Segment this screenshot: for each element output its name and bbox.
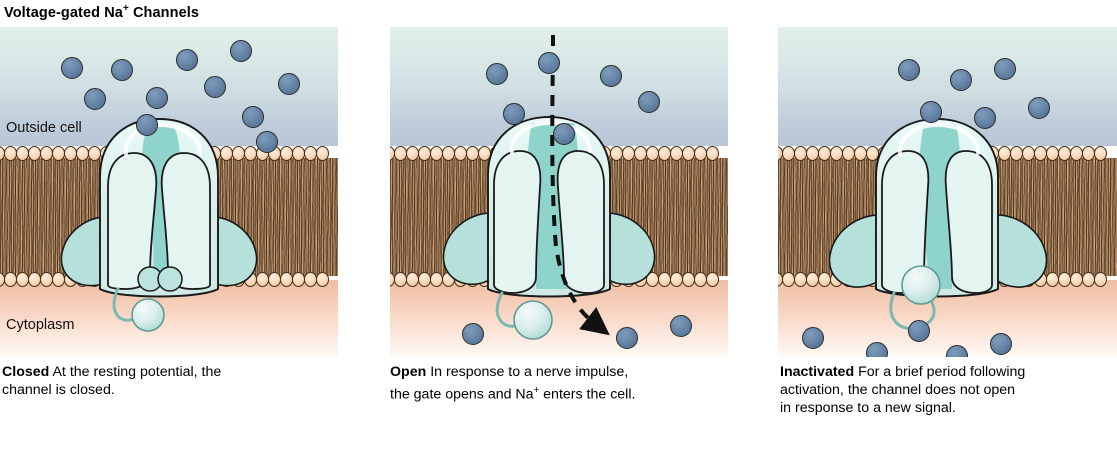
inactivation-ball (132, 299, 164, 331)
sodium-ion-extracellular (974, 107, 996, 129)
caption-closed: Closed At the resting potential, the cha… (2, 364, 332, 400)
sodium-ion-cytoplasmic (866, 342, 888, 357)
caption-open-label: Open (390, 364, 426, 380)
caption-closed-line2: channel is closed. (2, 382, 115, 398)
page-title: Voltage-gated Na+ Channels (4, 3, 199, 21)
channel-lobe-left (494, 151, 540, 293)
sodium-ion-extracellular (553, 123, 575, 145)
sodium-ion-extracellular (600, 65, 622, 87)
caption-inactivated-line3: in response to a new signal. (780, 400, 956, 416)
sodium-ion-cytoplasmic (670, 315, 692, 337)
caption-open-line1: In response to a nerve impulse, (426, 364, 628, 380)
panel-open (390, 27, 728, 357)
channel-lobe-right (558, 151, 604, 293)
channel-protein-open (390, 27, 728, 357)
sodium-ion-extracellular (1028, 97, 1050, 119)
sodium-ion-cytoplasmic (908, 320, 930, 342)
sodium-ion-extracellular (61, 57, 83, 79)
sodium-ion-extracellular (230, 40, 252, 62)
caption-open-line2-post: enters the cell. (539, 387, 635, 403)
title-tail-text: Channels (129, 5, 199, 21)
sodium-ion-cytoplasmic (990, 333, 1012, 355)
title-main-text: Voltage-gated Na (4, 5, 123, 21)
caption-closed-line1: At the resting potential, the (49, 364, 221, 380)
caption-open-line2-pre: the gate opens and Na (390, 387, 534, 403)
inactivation-ball (902, 266, 940, 304)
sodium-ion-extracellular (486, 63, 508, 85)
channel-protein-inactivated (778, 27, 1117, 357)
gate-seal-right (158, 267, 182, 291)
label-cytoplasm: Cytoplasm (6, 317, 75, 333)
inactivation-ball (514, 301, 552, 339)
sodium-ion-extracellular (638, 91, 660, 113)
sodium-ion-extracellular (111, 59, 133, 81)
sodium-ion-extracellular (146, 87, 168, 109)
sodium-ion-extracellular (204, 76, 226, 98)
sodium-ion-extracellular (503, 103, 525, 125)
sodium-ion-extracellular (136, 114, 158, 136)
sodium-ion-extracellular (278, 73, 300, 95)
caption-inactivated-line1: For a brief period following (854, 364, 1025, 380)
sodium-ion-cytoplasmic (802, 327, 824, 349)
sodium-ion-extracellular (256, 131, 278, 153)
sodium-ion-extracellular (920, 101, 942, 123)
label-outside-cell: Outside cell (6, 120, 82, 136)
caption-inactivated: Inactivated For a brief period following… (780, 364, 1116, 417)
sodium-ion-extracellular (84, 88, 106, 110)
sodium-ion-extracellular (950, 69, 972, 91)
caption-closed-label: Closed (2, 364, 49, 380)
sodium-ion-extracellular (242, 106, 264, 128)
figure-root: Voltage-gated Na+ Channels (0, 0, 1117, 452)
sodium-ion-extracellular (176, 49, 198, 71)
sodium-ion-cytoplasmic (616, 327, 638, 349)
caption-inactivated-line2: activation, the channel does not open (780, 382, 1015, 398)
channel-lobe-right (946, 151, 992, 293)
sodium-ion-extracellular (538, 52, 560, 74)
sodium-ion-extracellular (994, 58, 1016, 80)
caption-inactivated-label: Inactivated (780, 364, 854, 380)
caption-open: Open In response to a nerve impulse, the… (390, 364, 726, 404)
panel-closed: Outside cell Cytoplasm (0, 27, 338, 357)
panel-inactivated (778, 27, 1117, 357)
sodium-ion-extracellular (898, 59, 920, 81)
sodium-ion-cytoplasmic (462, 323, 484, 345)
